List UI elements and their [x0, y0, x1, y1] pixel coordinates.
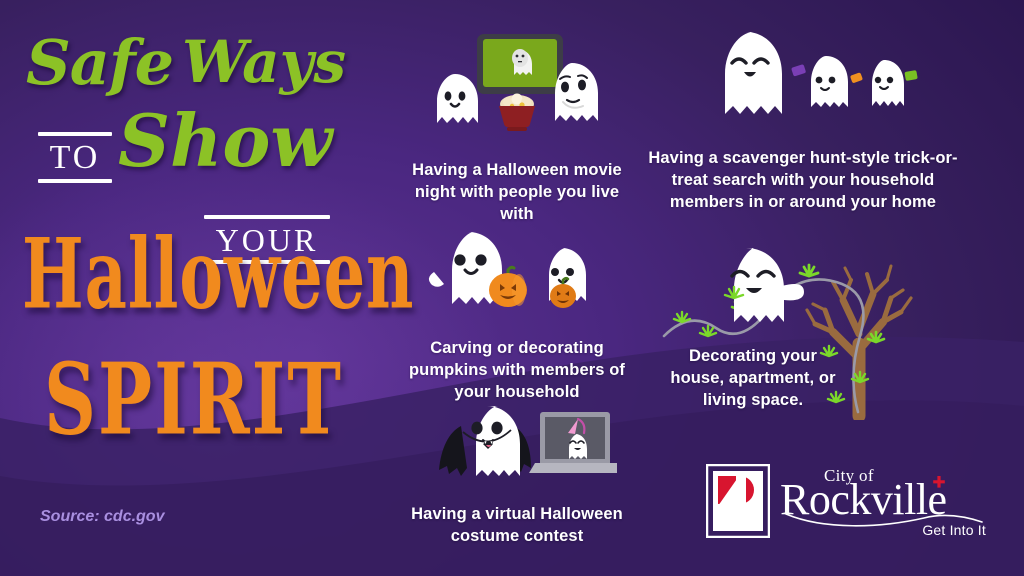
city-of-rockville-logo[interactable]: City of Rockville Get Into It	[706, 462, 986, 540]
title-word-spirit: SPIRIT	[44, 356, 343, 444]
panel-movie-night: Having a Halloween movie night with peop…	[398, 30, 636, 226]
panel-caption: Having a virtual Halloween costume conte…	[392, 504, 642, 548]
title-word-safe: Safe	[26, 34, 173, 91]
source-attribution: Source: cdc.gov	[40, 508, 164, 526]
panel-pumpkin-carving: Carving or decorating pumpkins with memb…	[398, 228, 636, 404]
panel-caption: Carving or decorating pumpkins with memb…	[398, 338, 636, 404]
panel-virtual-costume-contest: Having a virtual Halloween costume conte…	[392, 400, 642, 548]
ghosts-watching-tv-illustration	[417, 30, 617, 150]
vampire-ghost-with-laptop-illustration	[417, 400, 617, 490]
title-word-to: TO	[38, 132, 112, 183]
title-word-show: Show	[118, 108, 332, 174]
panel-decorating: Decorating your house, apartment, or liv…	[662, 238, 962, 412]
panel-caption: Having a scavenger hunt-style trick-or-t…	[648, 148, 958, 214]
rockville-r-mark-icon	[706, 464, 770, 538]
panel-scavenger-hunt: Having a scavenger hunt-style trick-or-t…	[648, 26, 958, 214]
title-block: Safe Ways TO Show YOUR Halloween SPIRIT …	[0, 0, 392, 576]
title-word-halloween: Halloween	[22, 232, 414, 319]
logo-wordmark: City of Rockville Get Into It	[780, 462, 986, 540]
three-ghosts-with-candy-illustration	[688, 26, 918, 136]
panel-caption: Having a Halloween movie night with peop…	[398, 160, 636, 226]
title-word-ways: Ways	[182, 36, 346, 89]
ghost-stringing-lights-on-tree-illustration	[646, 230, 946, 420]
red-cross-icon	[932, 476, 946, 490]
title-to-text: TO	[38, 141, 112, 175]
infographic-canvas: Safe Ways TO Show YOUR Halloween SPIRIT …	[0, 0, 1024, 576]
ghosts-with-jack-o-lanterns-illustration	[422, 228, 612, 326]
rule-top	[38, 132, 112, 136]
rule-bottom	[38, 179, 112, 183]
logo-tagline-text: Get Into It	[922, 522, 986, 538]
